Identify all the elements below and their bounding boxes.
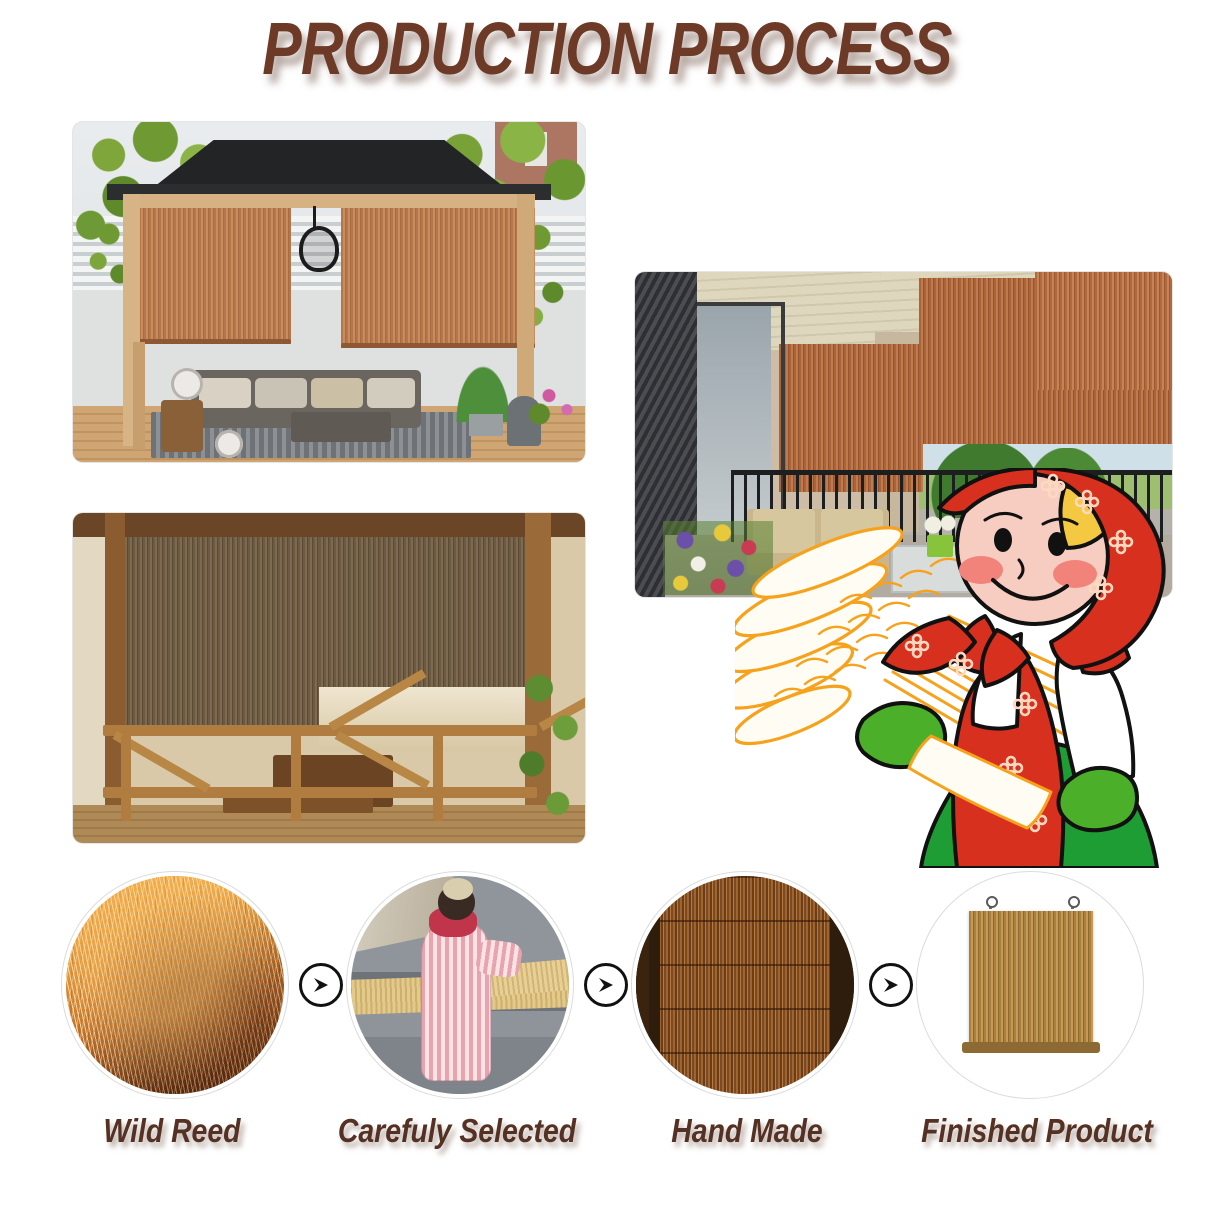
process-step-2-label: Carefuly Selected <box>319 1112 594 1150</box>
reed-blind-right <box>341 208 535 348</box>
bamboo-blind-right <box>319 535 533 687</box>
coffee-table <box>291 412 391 442</box>
photo-porch-bamboo-blinds <box>73 513 585 843</box>
bamboo-blind-left <box>123 535 319 731</box>
wooden-railing <box>103 725 537 821</box>
pendant-lamp <box>295 206 335 266</box>
climbing-vine <box>509 663 585 843</box>
decor-sphere <box>215 430 243 458</box>
process-step-4-label: Finished Product <box>895 1112 1179 1150</box>
decor-sphere <box>171 368 203 400</box>
finished-reed-blind-icon <box>921 876 1139 1094</box>
reed-blind-left <box>139 208 291 344</box>
arrow-step-1-to-2-icon <box>299 963 343 1007</box>
arrow-step-2-to-3-icon <box>584 963 628 1007</box>
photo-gazebo-reed-blinds <box>73 122 585 462</box>
page-title: PRODUCTION PROCESS <box>121 8 1092 91</box>
sofa-cushion <box>199 378 251 408</box>
roof-beam <box>73 513 585 537</box>
sofa-cushion <box>255 378 307 408</box>
woven-reed-screen-icon <box>636 876 854 1094</box>
garden-flowers <box>525 374 585 428</box>
process-step-2-image <box>347 872 573 1098</box>
sofa-cushion <box>311 378 363 408</box>
reed-blind-far-right <box>1035 272 1172 390</box>
infographic-canvas: PRODUCTION PROCESS <box>0 0 1214 1214</box>
process-step-3-image <box>632 872 858 1098</box>
wild-reed-fibers-icon <box>66 876 284 1094</box>
process-step-1-image <box>62 872 288 1098</box>
wood-stump-stool <box>161 400 203 452</box>
sofa-cushion <box>367 378 415 408</box>
process-step-3-label: Hand Made <box>627 1112 868 1150</box>
worker-selecting-reed-icon <box>351 876 569 1094</box>
process-step-4-image <box>917 872 1143 1098</box>
gazebo-post-mid <box>133 342 145 450</box>
process-step-1-label: Wild Reed <box>52 1112 293 1150</box>
mascot-farmer-woman <box>735 468 1205 868</box>
arrow-step-3-to-4-icon <box>869 963 913 1007</box>
plant-pot <box>469 414 503 436</box>
